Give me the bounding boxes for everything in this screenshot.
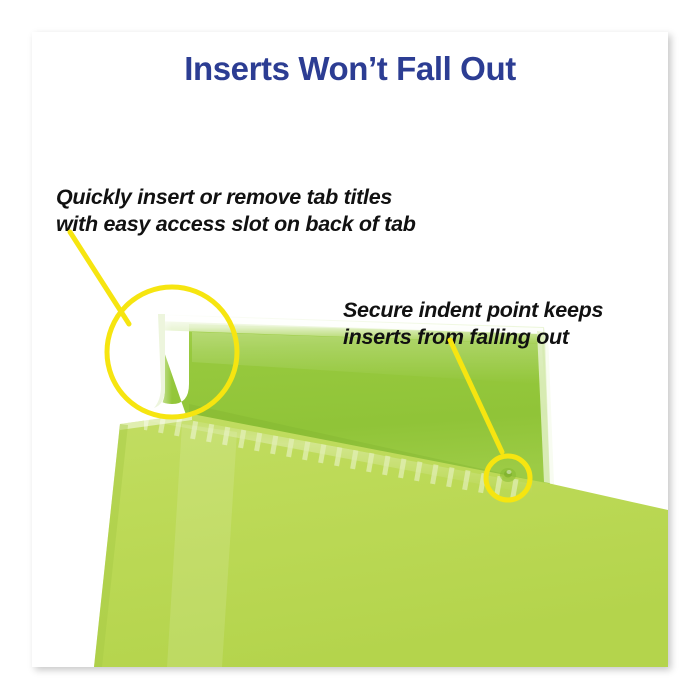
callout-line-1: Secure indent point keeps xyxy=(343,297,603,324)
white-card: Inserts Won’t Fall Out Quickly insert or… xyxy=(32,32,668,667)
page-title: Inserts Won’t Fall Out xyxy=(32,50,668,88)
front-panel xyxy=(94,414,668,667)
callout-line-2: inserts from falling out xyxy=(343,324,603,351)
callout-text-access-slot: Quickly insert or remove tab titles with… xyxy=(56,184,416,238)
callout-line-1: Quickly insert or remove tab titles xyxy=(56,184,416,211)
callout-line-2: with easy access slot on back of tab xyxy=(56,211,416,238)
product-feature-image: Inserts Won’t Fall Out Quickly insert or… xyxy=(0,0,700,700)
access-slot-notch xyxy=(124,314,165,410)
callout-text-indent-point: Secure indent point keeps inserts from f… xyxy=(343,297,603,351)
indent-point xyxy=(500,468,516,482)
